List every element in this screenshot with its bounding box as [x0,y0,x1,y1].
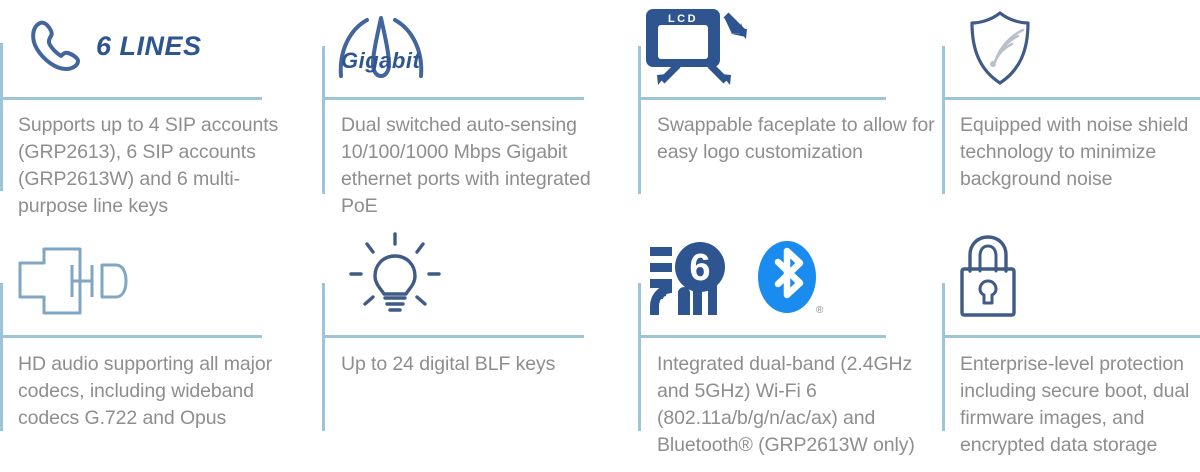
phone-handset-icon [28,17,82,75]
icon-area: LCD [624,0,932,96]
feature-description: Integrated dual-band (2.4GHz and 5GHz) W… [657,351,937,459]
svg-text:®: ® [816,305,824,316]
feature-cell-blf-keys: Up to 24 digital BLF keys [311,225,624,472]
feature-cell-faceplate: LCD Swappable faceplate to allow for eas… [624,0,932,225]
gigabit-label: Gigabit [341,48,420,74]
icon-area: 6 ® [624,225,932,333]
icon-area [311,225,624,329]
feature-description: Dual switched auto-sensing 10/100/1000 M… [341,112,623,220]
feature-cell-six-lines: 6 LINES Supports up to 4 SIP accounts (G… [0,0,311,225]
six-lines-label: 6 LINES [96,31,202,62]
horizontal-rule [942,335,1200,338]
horizontal-rule [322,335,584,338]
horizontal-rule [942,97,1200,100]
feature-description: Enterprise-level protection including se… [960,351,1200,459]
feature-grid: 6 LINES Supports up to 4 SIP accounts (G… [0,0,1200,472]
padlock-icon [954,235,1022,319]
icon-area [932,225,1200,329]
speaker-hd-icon [16,241,132,321]
lightbulb-icon [345,234,445,320]
feature-cell-noise-shield: Equipped with noise shield technology to… [932,0,1200,225]
shield-noise-icon [968,10,1032,86]
horizontal-rule [0,97,262,100]
feature-description: Up to 24 digital BLF keys [341,351,631,378]
feature-description: HD audio supporting all major codecs, in… [18,351,308,432]
feature-cell-security: Enterprise-level protection including se… [932,225,1200,472]
horizontal-rule [638,97,886,100]
horizontal-rule [638,335,886,338]
feature-description: Equipped with noise shield technology to… [960,112,1200,193]
feature-cell-gigabit: Gigabit Dual switched auto-sensing 10/10… [311,0,624,225]
horizontal-rule [322,97,584,100]
feature-cell-hd-audio: HD audio supporting all major codecs, in… [0,225,311,472]
icon-area [0,225,311,337]
feature-cell-wifi-bluetooth: 6 ® Integrated dual-band (2.4GHz and 5GH… [624,225,932,472]
feature-description: Swappable faceplate to allow for easy lo… [657,112,937,166]
wifi-6-icon: 6 [648,241,728,317]
wifi-6-numeral: 6 [689,247,710,289]
feature-description: Supports up to 4 SIP accounts (GRP2613),… [18,112,308,220]
lcd-screen-icon: LCD [642,7,748,89]
icon-area [932,0,1200,96]
icon-area: 6 LINES [0,0,311,92]
bluetooth-icon: ® [756,240,822,318]
svg-text:LCD: LCD [668,13,698,25]
